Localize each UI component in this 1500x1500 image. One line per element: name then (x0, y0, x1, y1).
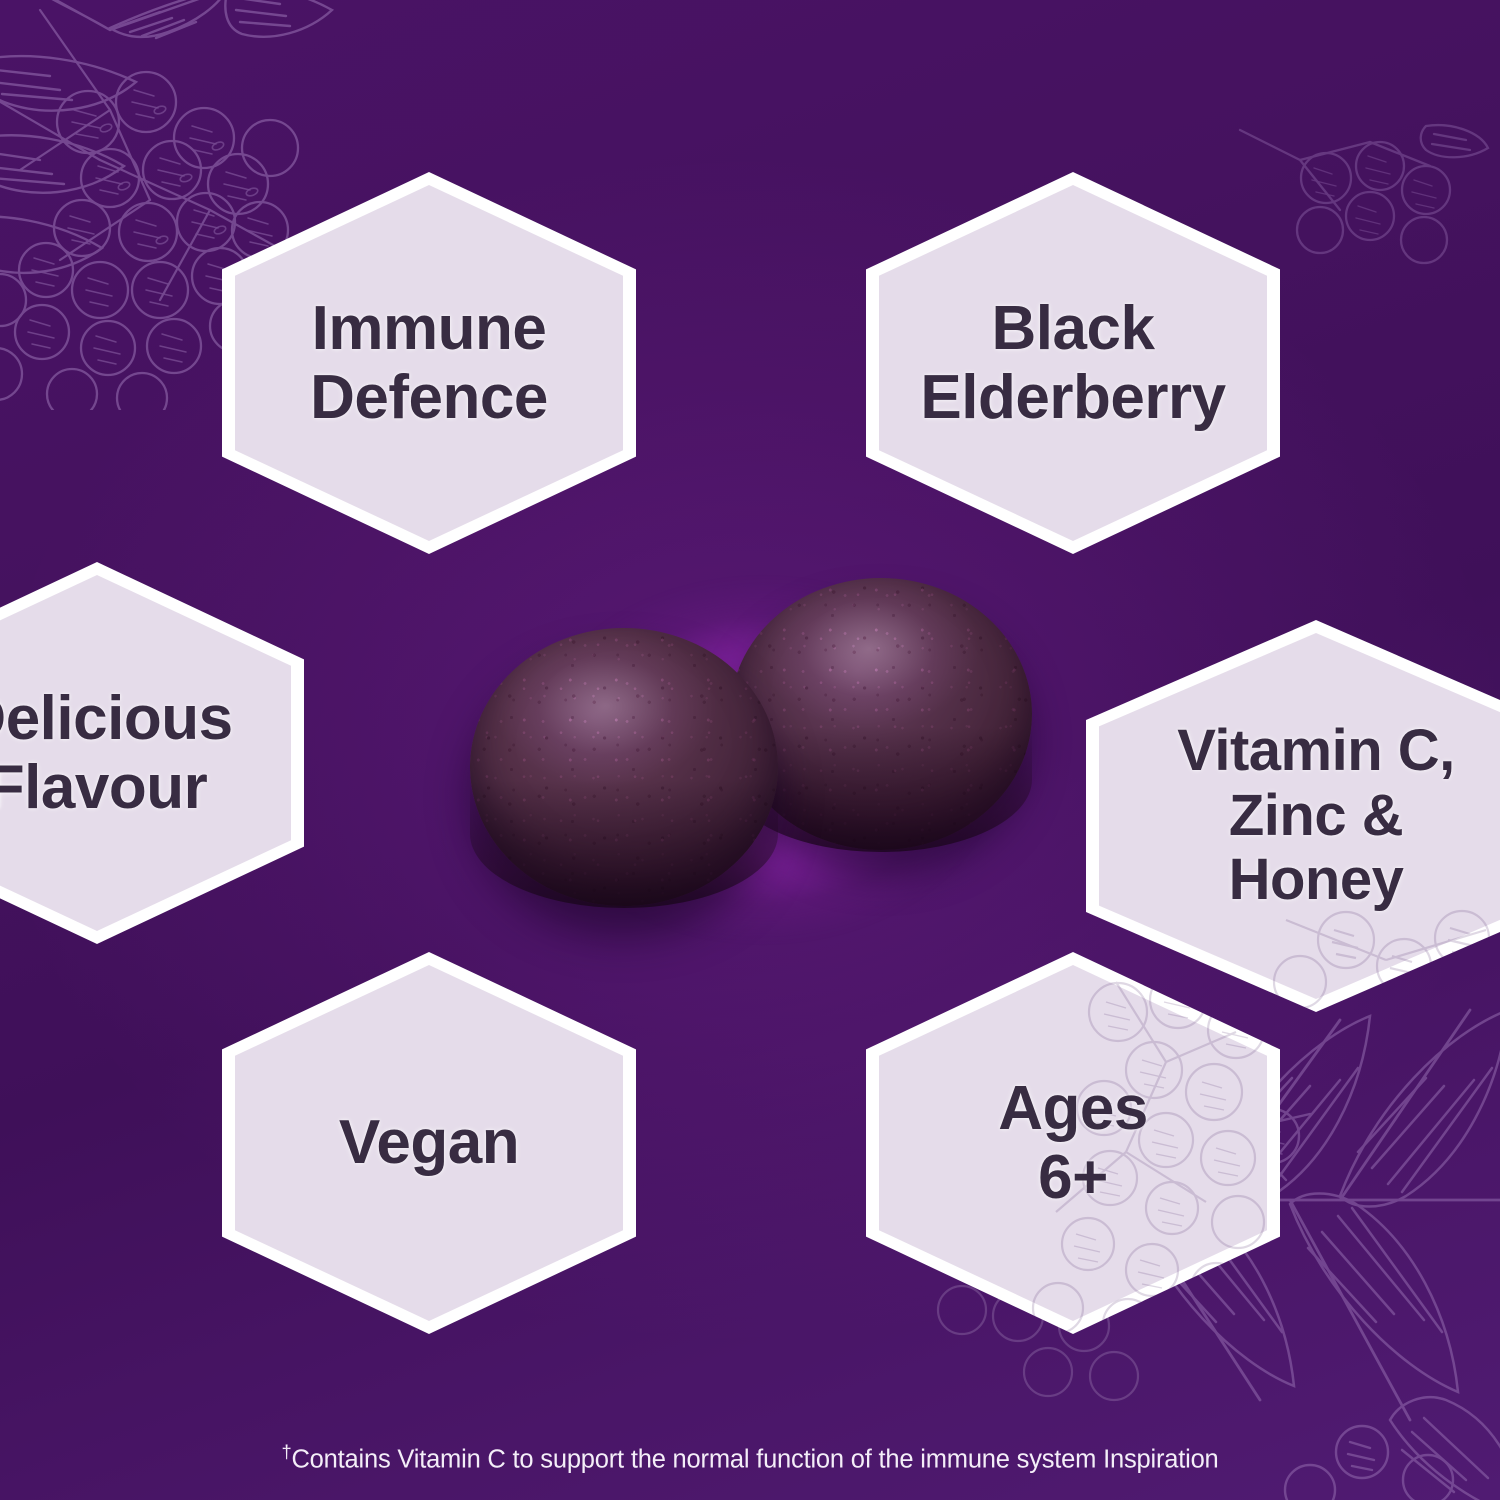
benefit-label-vegan: Vegan (321, 1108, 537, 1177)
benefit-line: Ages (998, 1074, 1148, 1143)
benefit-hex-black-elderberry: Black Elderberry (866, 172, 1280, 554)
benefit-label-immune-defence: Immune Defence (292, 294, 566, 433)
benefit-label-delicious-flavour: Delicious Flavour (0, 684, 251, 823)
benefit-label-black-elderberry: Black Elderberry (902, 294, 1243, 433)
benefit-line: Vegan (339, 1108, 519, 1177)
footnote-text: Contains Vitamin C to support the normal… (291, 1445, 1218, 1473)
benefit-hex-vitamin-c-zinc-honey: Vitamin C, Zinc & Honey (1086, 620, 1500, 1012)
benefit-line: 6+ (998, 1143, 1148, 1212)
benefit-line: Immune (310, 294, 548, 363)
footnote-dagger: † (281, 1441, 291, 1462)
benefit-label-vitamin-c-zinc-honey: Vitamin C, Zinc & Honey (1159, 719, 1473, 914)
benefit-line: Black (920, 294, 1225, 363)
benefit-line: Vitamin C, (1177, 719, 1455, 784)
benefit-hex-delicious-flavour: Delicious Flavour (0, 562, 304, 944)
benefit-line: Flavour (0, 753, 233, 822)
benefit-hex-vegan: Vegan (222, 952, 636, 1334)
product-infographic: Immune Defence Black Elderberry Deliciou… (0, 0, 1500, 1500)
tablet-texture (470, 628, 778, 906)
benefit-hex-ages-6-plus: Ages 6+ (866, 952, 1280, 1334)
benefit-line: Elderberry (920, 363, 1225, 432)
benefit-line: Zinc & (1177, 784, 1455, 849)
benefit-line: Defence (310, 363, 548, 432)
product-image (430, 500, 1070, 1000)
footnote: †Contains Vitamin C to support the norma… (0, 1441, 1500, 1475)
tablet-front (470, 628, 778, 906)
benefit-line: Delicious (0, 684, 233, 753)
benefit-label-ages-6-plus: Ages 6+ (980, 1074, 1166, 1213)
benefit-line: Honey (1177, 848, 1455, 913)
benefit-hex-immune-defence: Immune Defence (222, 172, 636, 554)
